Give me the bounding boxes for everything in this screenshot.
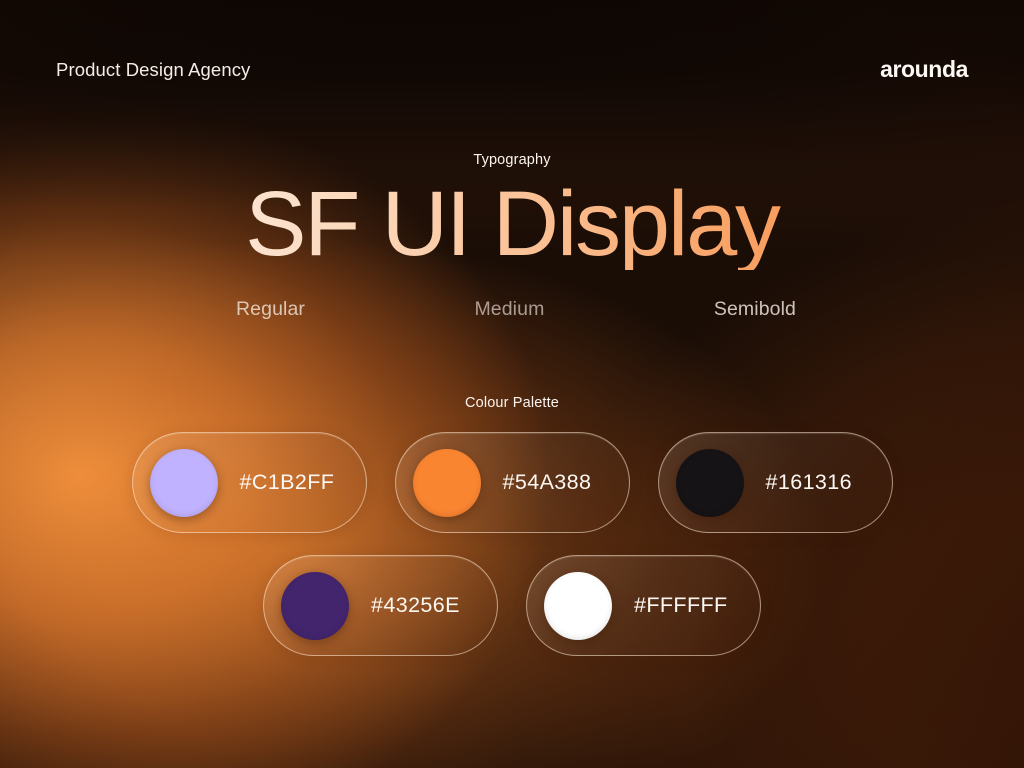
slide-canvas: Product Design Agency arounda Typography… (0, 0, 1024, 768)
colour-swatch-icon (544, 572, 612, 640)
colour-hex-label: #161316 (766, 470, 853, 495)
colour-hex-label: #43256E (371, 593, 460, 618)
colour-chip[interactable]: #FFFFFF (526, 555, 761, 656)
typography-section-label: Typography (0, 152, 1024, 168)
colour-hex-label: #FFFFFF (634, 593, 728, 618)
slide-header: Product Design Agency arounda (56, 56, 968, 83)
agency-name: Product Design Agency (56, 59, 250, 81)
font-weight-regular: Regular (236, 298, 305, 321)
colour-chip[interactable]: #161316 (658, 432, 893, 533)
palette-row: #43256E #FFFFFF (0, 555, 1024, 656)
colour-palette: #C1B2FF #54A388 #161316 #43256E (0, 432, 1024, 656)
colour-chip[interactable]: #C1B2FF (132, 432, 367, 533)
font-weight-medium: Medium (474, 298, 544, 321)
colour-chip[interactable]: #43256E (263, 555, 498, 656)
colour-chip[interactable]: #54A388 (395, 432, 630, 533)
font-weight-list: Regular Medium Semibold (236, 298, 796, 321)
font-weight-semibold: Semibold (714, 298, 796, 321)
colour-swatch-icon (413, 449, 481, 517)
palette-section-label: Colour Palette (0, 395, 1024, 411)
colour-swatch-icon (676, 449, 744, 517)
palette-row: #C1B2FF #54A388 #161316 (0, 432, 1024, 533)
slide-content: Product Design Agency arounda Typography… (0, 0, 1024, 768)
font-name-display: SF UI Display (0, 178, 1024, 270)
colour-swatch-icon (150, 449, 218, 517)
colour-swatch-icon (281, 572, 349, 640)
colour-hex-label: #54A388 (503, 470, 592, 495)
arounda-logo: arounda (880, 56, 968, 83)
colour-hex-label: #C1B2FF (240, 470, 335, 495)
